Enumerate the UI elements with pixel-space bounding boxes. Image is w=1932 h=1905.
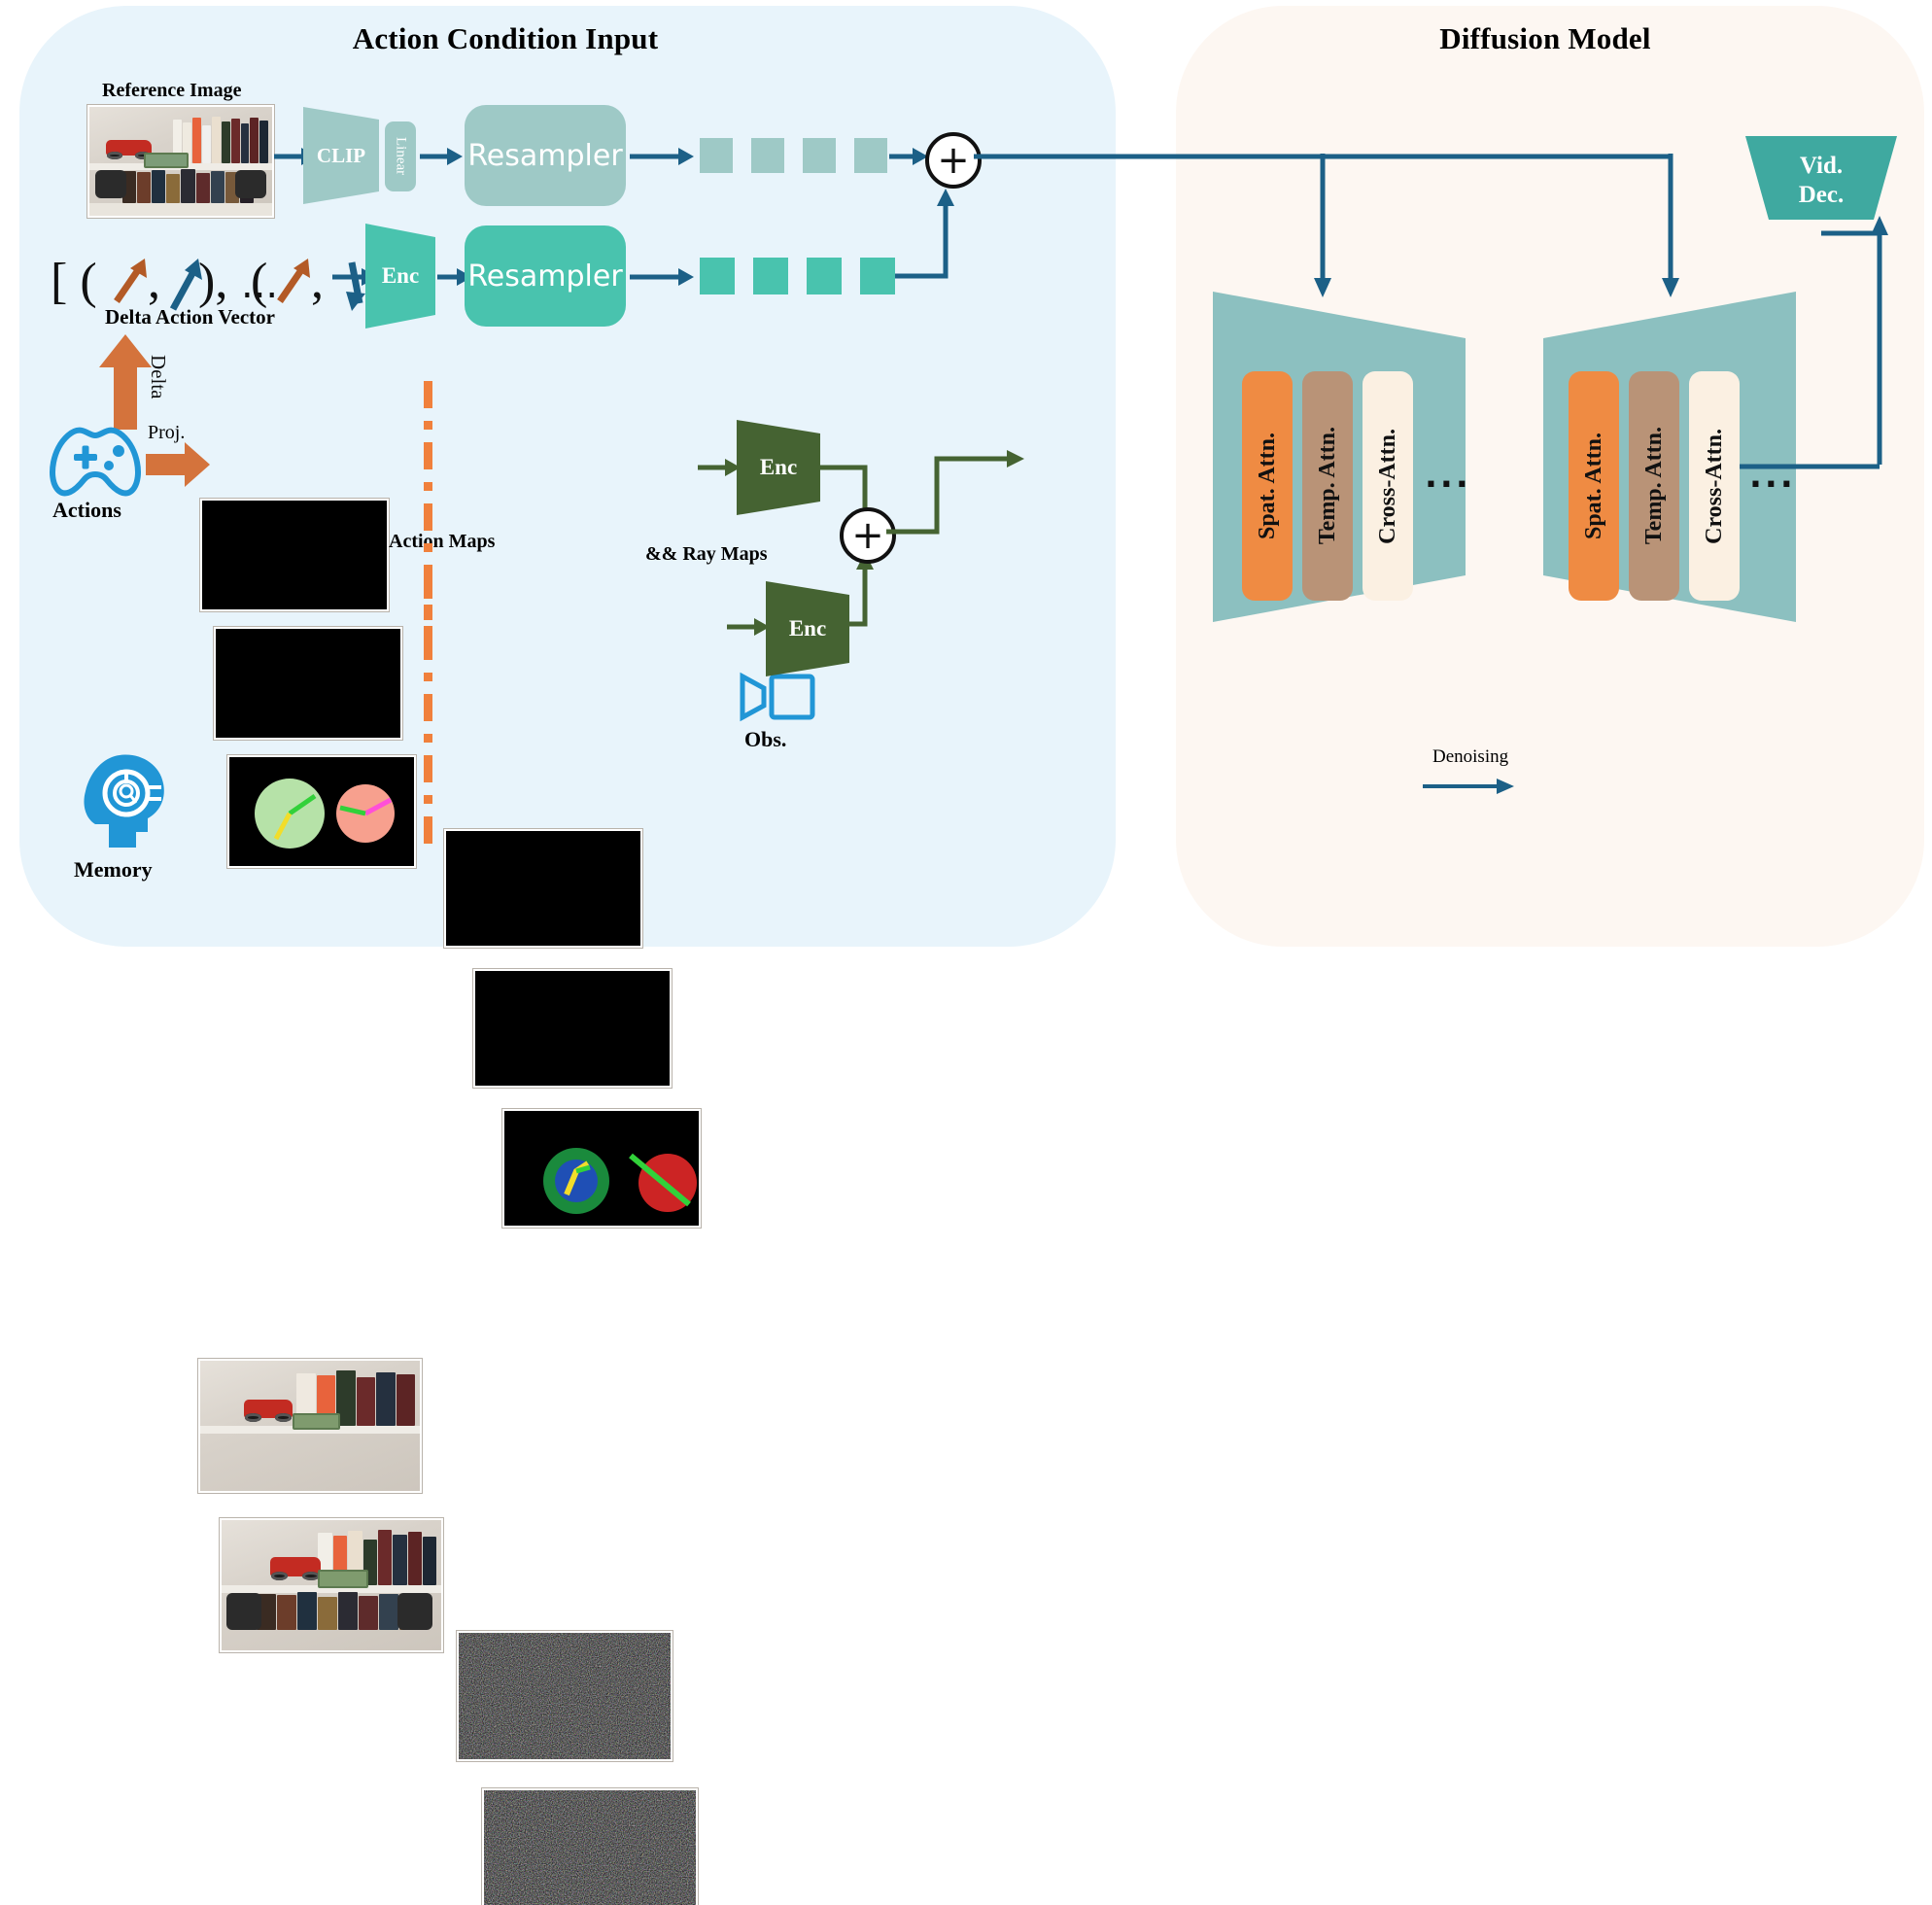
brain-memory-icon — [76, 750, 169, 857]
arrow-resampler-to-tokens-top — [630, 144, 694, 169]
temp-attn-label-1: Temp. Attn. — [1315, 427, 1341, 544]
separator-memory-obs — [424, 571, 432, 844]
cross-attn-pill-1[interactable]: Cross-Attn. — [1363, 371, 1413, 601]
cross-attn-label-1: Cross-Attn. — [1375, 429, 1401, 544]
noise-mid — [484, 1790, 696, 1905]
token-top-1 — [700, 138, 733, 173]
svg-text:,: , — [311, 254, 324, 309]
denoising-arrow — [1423, 774, 1516, 799]
spat-attn-pill-2[interactable]: Spat. Attn. — [1569, 371, 1619, 601]
temp-attn-label-2: Temp. Attn. — [1641, 427, 1668, 544]
spat-attn-label-1: Spat. Attn. — [1255, 433, 1281, 539]
unet-ellipsis-1: ... — [1425, 457, 1471, 496]
left-panel-title: Action Condition Input — [321, 21, 690, 56]
path-unet-out — [1740, 457, 1891, 476]
gamepad-icon — [45, 422, 146, 500]
action-map-content — [229, 757, 414, 866]
resampler-top[interactable]: Resampler — [465, 105, 626, 206]
actions-label: Actions — [52, 498, 121, 523]
temp-attn-pill-1[interactable]: Temp. Attn. — [1302, 371, 1353, 601]
path-unet-to-viddec — [1788, 214, 1895, 467]
delta-action-vector-caption: Delta Action Vector — [105, 305, 275, 329]
delta-arrow-label-wrap: Delta — [146, 338, 170, 416]
arrow-raymaps-to-enc — [698, 455, 741, 480]
svg-text:[ (: [ ( — [51, 254, 97, 309]
spat-attn-label-2: Spat. Attn. — [1581, 433, 1607, 539]
enc-action-label: Enc — [365, 224, 435, 329]
video-decoder-line1: Vid. — [1800, 153, 1843, 180]
cross-attn-label-2: Cross-Attn. — [1702, 429, 1728, 544]
token-bottom-4 — [860, 258, 895, 294]
svg-text:),: ), — [198, 254, 227, 309]
memory-frame-front — [220, 1518, 443, 1652]
ray-map-content — [504, 1111, 699, 1226]
linear-label-wrap: Linear — [385, 121, 416, 191]
token-top-4 — [854, 138, 887, 173]
bus-drop-left — [1310, 154, 1335, 299]
video-decoder-label: Vid. Dec. — [1745, 142, 1897, 220]
token-bottom-3 — [807, 258, 842, 294]
memory-label: Memory — [74, 857, 153, 883]
arrow-obs-to-enc — [727, 614, 770, 640]
cross-attn-pill-2[interactable]: Cross-Attn. — [1689, 371, 1740, 601]
bus-drop-right — [1658, 154, 1683, 299]
proj-arrow — [146, 442, 210, 487]
obs-frame-back — [457, 1631, 673, 1761]
token-top-2 — [751, 138, 784, 173]
token-bottom-2 — [753, 258, 788, 294]
spat-attn-pill-1[interactable]: Spat. Attn. — [1242, 371, 1293, 601]
svg-text:,: , — [148, 254, 160, 309]
svg-text:(: ( — [251, 254, 267, 309]
right-panel-title: Diffusion Model — [1361, 21, 1730, 56]
path-sum-to-unet — [886, 443, 1042, 550]
video-decoder-line2: Dec. — [1799, 182, 1845, 209]
denoising-label: Denoising — [1432, 746, 1508, 768]
token-bottom-1 — [700, 258, 735, 294]
action-map-frame-front — [227, 755, 416, 868]
action-maps-label: Action Maps — [389, 531, 495, 553]
arrow-linear-to-resampler — [420, 144, 463, 169]
camera-frustum-icon — [739, 669, 816, 725]
ray-map-frame-back — [444, 829, 642, 948]
enc-obs-label: Enc — [766, 581, 849, 676]
delta-arrow-label: Delta — [146, 355, 170, 398]
memory-frame-back — [198, 1359, 422, 1493]
linear-label: Linear — [393, 137, 409, 175]
clip-label: CLIP — [303, 107, 379, 204]
reference-image-label: Reference Image — [102, 80, 241, 102]
reference-image — [87, 105, 274, 218]
ray-map-frame-mid — [473, 969, 672, 1088]
temp-attn-pill-2[interactable]: Temp. Attn. — [1629, 371, 1679, 601]
ray-map-frame-front — [502, 1109, 701, 1228]
ray-maps-label: && Ray Maps — [645, 543, 768, 566]
noise-back — [459, 1633, 671, 1759]
resampler-bottom[interactable]: Resampler — [465, 225, 626, 327]
action-map-frame-back — [200, 499, 389, 611]
obs-label: Obs. — [744, 727, 786, 752]
obs-frame-mid — [482, 1788, 698, 1905]
arrow-tokens-to-sum — [889, 144, 928, 169]
proj-label: Proj. — [148, 422, 185, 444]
elbow-bottom-tokens-to-sum — [895, 185, 1021, 282]
action-map-frame-mid — [214, 627, 402, 740]
arrow-resampler-bottom-to-tokens — [630, 264, 694, 290]
token-top-3 — [803, 138, 836, 173]
enc-actionmap-label: Enc — [737, 420, 820, 515]
